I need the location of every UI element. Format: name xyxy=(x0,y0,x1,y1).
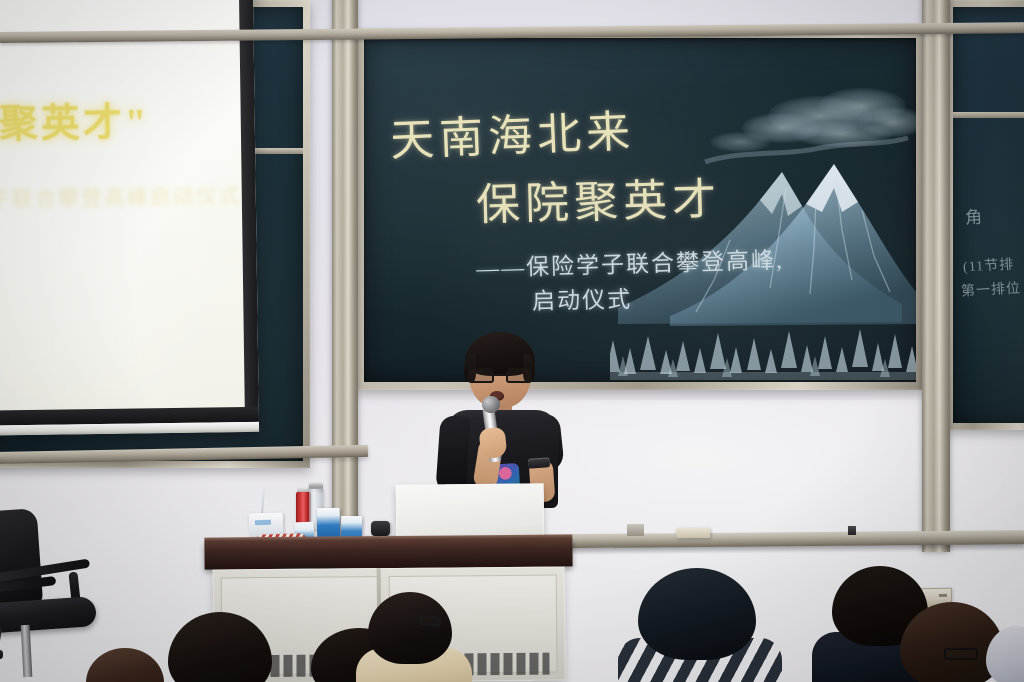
presenter-eyeglasses xyxy=(468,368,532,383)
eyeglass-lens-right xyxy=(506,368,532,383)
blackboard-right-divider xyxy=(953,112,1024,118)
board-frame-mullion-left xyxy=(332,0,358,552)
blackboard-right-chalk-3: 第一排位 xyxy=(961,277,1022,300)
presenter-left-arm xyxy=(435,415,470,493)
screen-glow xyxy=(0,0,259,436)
wristwatch xyxy=(528,457,551,469)
ledge-clip xyxy=(848,526,856,535)
blackboard-right-chalk-2: (11节排 xyxy=(963,254,1015,277)
black-object xyxy=(371,521,390,536)
audience-glasses-7 xyxy=(944,648,978,660)
ledge-bracket xyxy=(627,524,644,536)
chalk-dust-overlay xyxy=(953,7,1024,423)
blackboard-title-line-1: 天南海北来 xyxy=(389,95,636,168)
blackboard-subtitle-line-2: 启动仪式 xyxy=(532,280,633,316)
lectern-front-panel xyxy=(396,483,545,540)
eyeglass-lens-left xyxy=(468,368,494,383)
projector-screen: 保院聚英才" 保险学子联合攀登高峰启动仪式 xyxy=(0,0,259,436)
classroom-photo: 天南海北来 保院聚英才 ——保险学子联合攀登高峰, 启动仪式 角 (11节排 第… xyxy=(0,0,1024,682)
screen-title-text: 保院聚英才" xyxy=(0,91,150,150)
eyeglass-bridge xyxy=(494,374,506,376)
tissue-box-label xyxy=(255,520,271,525)
blackboard-title-line-2: 保院聚英才 xyxy=(475,163,721,233)
audience-glasses-4 xyxy=(419,615,442,627)
blackboard-right: 角 (11节排 第一排位 xyxy=(946,0,1024,430)
desk-top-surface xyxy=(204,538,572,569)
chalk-clouds xyxy=(705,88,916,162)
presenter xyxy=(424,336,576,504)
screen-subtitle-text: 保险学子联合攀登高峰启动仪式 xyxy=(0,180,242,214)
blackboard-right-chalk-1: 角 xyxy=(964,203,983,229)
chair-gas-cylinder xyxy=(21,625,33,677)
blackboard-right-surface: 角 (11节排 第一排位 xyxy=(953,7,1024,423)
board-frame-mullion-right xyxy=(922,0,950,552)
chalk-artwork xyxy=(610,80,916,380)
chair-lever-knob xyxy=(0,650,3,659)
blackboard-subtitle-line-1: ——保险学子联合攀登高峰, xyxy=(476,241,785,284)
chair-seat xyxy=(0,596,97,634)
blackboard-center-surface: 天南海北来 保院聚英才 ——保险学子联合攀登高峰, 启动仪式 xyxy=(364,38,916,382)
chalk-pine-forest xyxy=(610,329,916,380)
blackboard-eraser xyxy=(676,528,710,538)
